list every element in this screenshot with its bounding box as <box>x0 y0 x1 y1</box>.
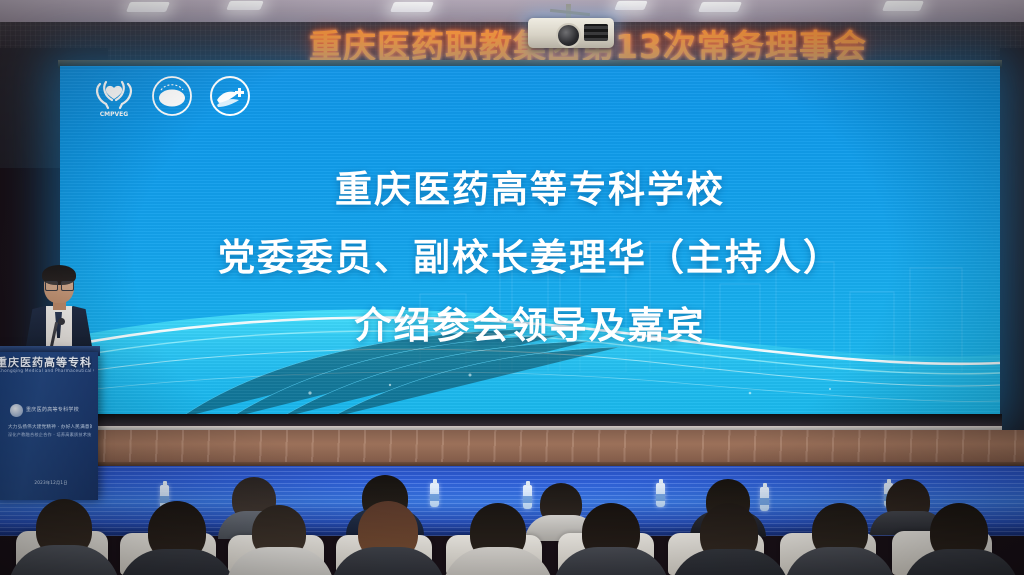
water-bottle <box>430 483 439 507</box>
slide-line-3: 介绍参会领导及嘉宾 <box>60 298 1000 354</box>
ceiling-light <box>882 1 924 11</box>
conference-hall-scene: 重庆医药职教集团第13次常务理事会 <box>0 0 1024 575</box>
medical-cross-bird-logo-icon <box>208 74 252 118</box>
presenter <box>22 268 96 356</box>
water-bottle <box>760 487 769 511</box>
ceiling-light <box>226 1 264 10</box>
microphone-head-icon <box>58 318 65 325</box>
slide-text-block: 重庆医药高等专科学校 党委委员、副校长姜理华（主持人） 介绍参会领导及嘉宾 <box>60 162 1000 355</box>
wall-right-panel <box>1000 48 1024 478</box>
slide-line-2: 党委委员、副校长姜理华（主持人） <box>60 230 1000 286</box>
podium-slogan-line-2: 深化产教融合校企合作 · 培养高素质技术技能人才 <box>8 432 92 438</box>
screen-logos: CMPVEG <box>92 74 252 118</box>
projector-lens-icon <box>556 23 581 48</box>
water-bottle <box>656 483 665 507</box>
circular-seal-logo-icon <box>150 74 194 118</box>
slide-line-1: 重庆医药高等专科学校 <box>60 162 1000 218</box>
podium-school-name-en: Chongqing Medical and Pharmaceutical Col… <box>0 368 94 373</box>
ceiling-light <box>698 2 742 12</box>
presenter-glasses-icon <box>61 281 74 291</box>
ceiling-light <box>126 2 170 12</box>
podium-slogan-line-1: 大力弘扬伟大建党精神 · 办好人民满意的教育 <box>8 424 92 430</box>
ceiling-light <box>614 1 648 10</box>
presenter-glasses-icon <box>45 281 58 291</box>
cmpveg-hands-logo-icon: CMPVEG <box>92 74 136 118</box>
water-bottle <box>523 485 532 509</box>
ceiling-light <box>390 2 434 12</box>
presentation-screen: CMPVEG 重庆医药高等专科学校 <box>60 66 1000 418</box>
audience-area <box>0 470 1024 575</box>
projector-vent <box>584 24 608 41</box>
svg-text:CMPVEG: CMPVEG <box>100 111 129 118</box>
podium-emblem-label: 重庆医药高等专科学校 <box>26 406 79 413</box>
ceiling-projector <box>528 4 614 50</box>
podium-emblem-icon <box>10 404 23 417</box>
